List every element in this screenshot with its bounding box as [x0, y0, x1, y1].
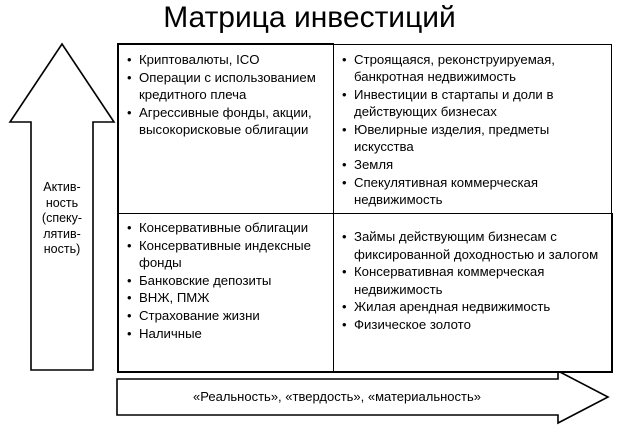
list-item: Строящаяся, реконструируемая, банкротная… [340, 51, 605, 86]
matrix-row-bottom: Консервативные облигацииКонсервативные и… [118, 214, 612, 373]
list-item: ВНЖ, ПМЖ [125, 289, 327, 307]
list-item: Спекулятивная коммерческая недвижимость [340, 174, 605, 209]
list-item: Консервативные облигации [125, 219, 327, 237]
list-item: Агрессивные фонды, акции, высокорисковые… [125, 104, 327, 139]
list-item: Наличные [125, 325, 327, 343]
quadrant-top-left: Криптовалюты, ICOОперации с использовани… [118, 44, 334, 214]
investment-matrix-figure: Матрица инвестиций Актив- ность (спеку- … [0, 0, 619, 432]
list-item: Операции с использованием кредитного пле… [125, 69, 327, 104]
page-title: Матрица инвестиций [0, 0, 619, 38]
quadrant-bottom-right: Займы действующим бизнесам с фиксированн… [334, 214, 612, 373]
list-item: Жилая арендная недвижимость [340, 298, 605, 316]
vertical-axis-label: Актив- ность (спеку- лятив- ность) [31, 180, 93, 258]
list-item: Криптовалюты, ICO [125, 51, 327, 69]
list-item: Ювелирные изделия, предметы искусства [340, 121, 605, 156]
list-item: Страхование жизни [125, 307, 327, 325]
list-item: Консервативные индексные фонды [125, 237, 327, 272]
quadrant-top-right-list: Строящаяся, реконструируемая, банкротная… [340, 51, 605, 209]
matrix-row-top: Криптовалюты, ICOОперации с использовани… [118, 44, 612, 214]
quadrant-top-left-list: Криптовалюты, ICOОперации с использовани… [125, 51, 327, 139]
quadrant-bottom-right-list: Займы действующим бизнесам с фиксированн… [340, 228, 605, 334]
list-item: Физическое золото [340, 316, 605, 334]
quadrant-bottom-left-list: Консервативные облигацииКонсервативные и… [125, 219, 327, 342]
list-item: Инвестиции в стартапы и доли в действующ… [340, 86, 605, 121]
list-item: Займы действующим бизнесам с фиксированн… [340, 228, 605, 263]
quadrant-top-right: Строящаяся, реконструируемая, банкротная… [334, 44, 612, 214]
quadrant-bottom-left: Консервативные облигацииКонсервативные и… [118, 214, 334, 373]
matrix-table: Криптовалюты, ICOОперации с использовани… [117, 43, 613, 373]
horizontal-axis-label: «Реальность», «твердость», «материальнос… [117, 388, 557, 405]
list-item: Банковские депозиты [125, 272, 327, 290]
list-item: Земля [340, 156, 605, 174]
list-item: Консервативная коммерческая недвижимость [340, 263, 605, 298]
